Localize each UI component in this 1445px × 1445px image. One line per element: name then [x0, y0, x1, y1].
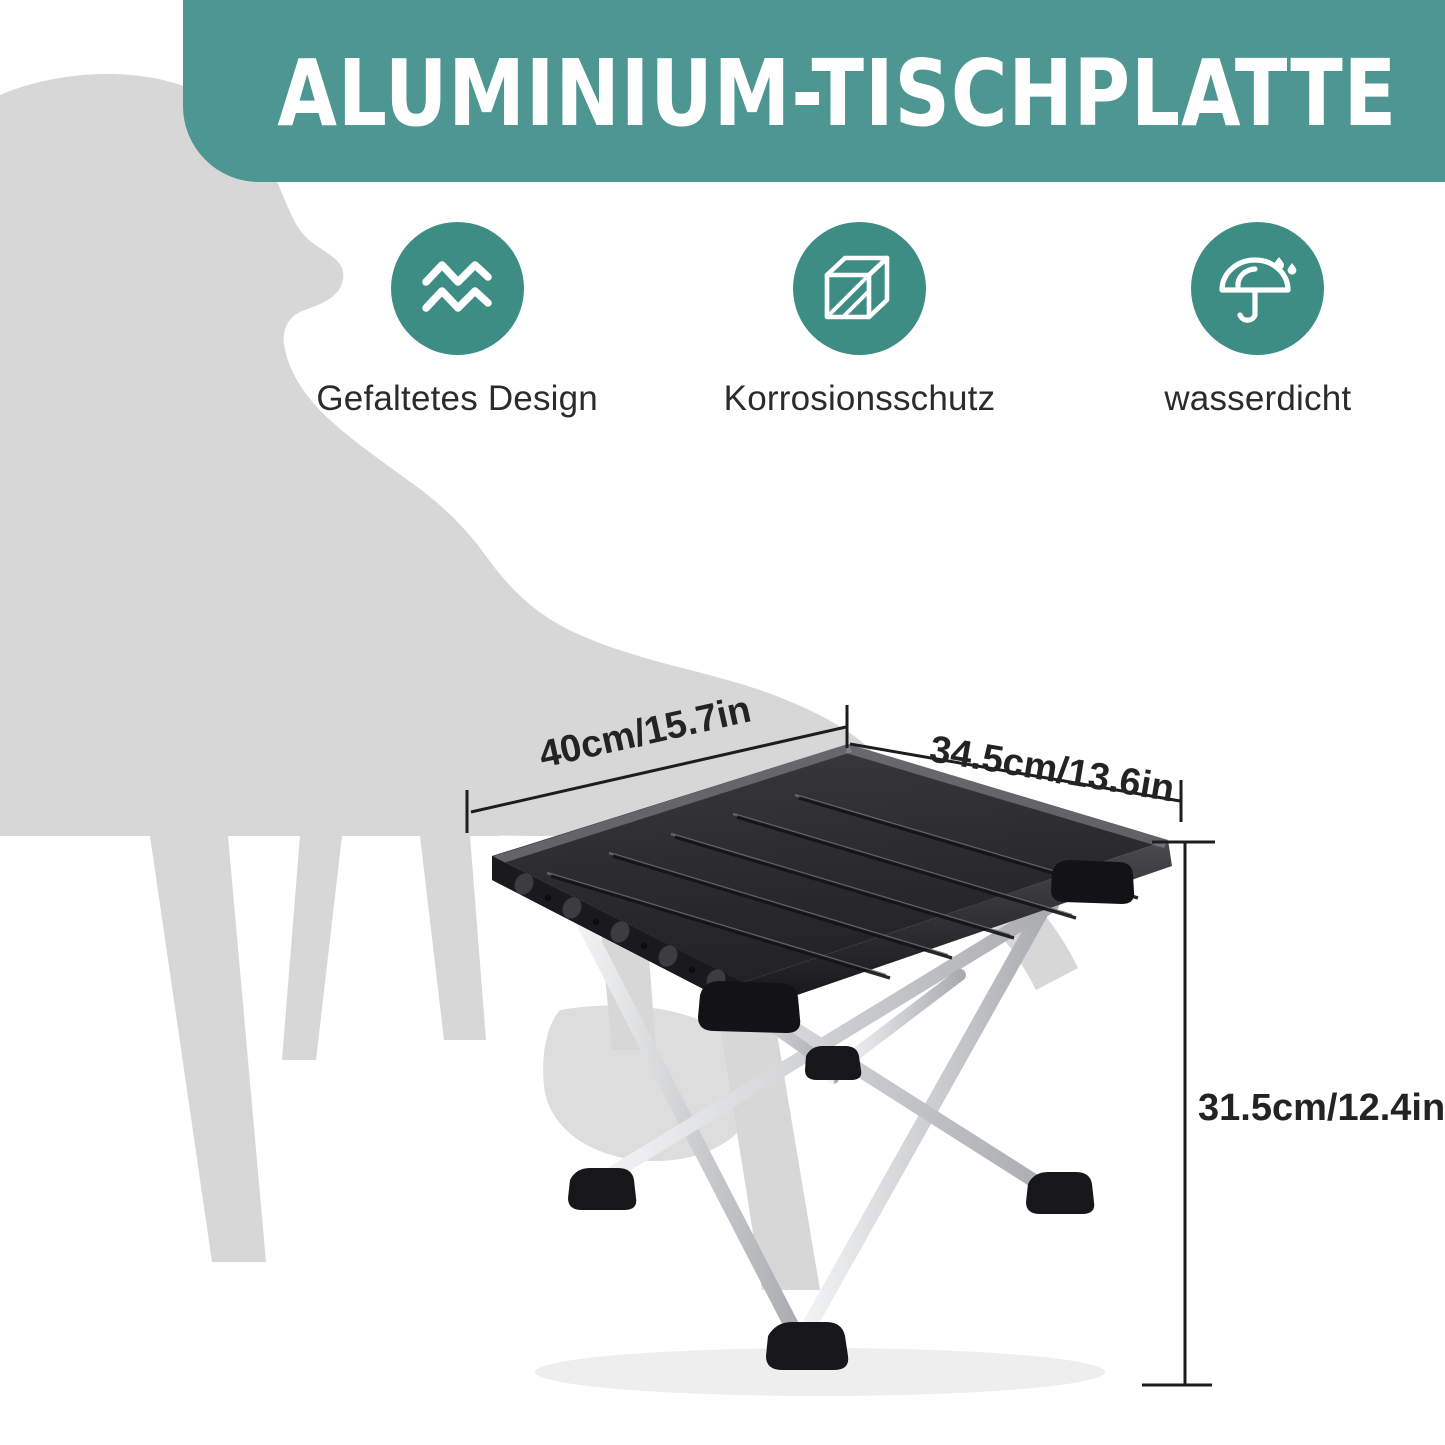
feature-list: Gefaltetes Design	[250, 222, 1445, 437]
dimension-label-depth: 34.5cm/13.6in	[926, 728, 1177, 811]
floor-shadow	[535, 1348, 1105, 1396]
feature-label: Gefaltetes Design	[316, 379, 598, 419]
umbrella-raindrops-icon	[1216, 249, 1300, 329]
feature-item-waterproof: wasserdicht	[1071, 222, 1445, 419]
feature-label: wasserdicht	[1164, 379, 1351, 419]
feature-item-corrosion-protection: Korrosionsschutz	[672, 222, 1046, 419]
table-feet	[568, 1046, 1094, 1370]
feature-item-folded-design: Gefaltetes Design	[270, 222, 644, 419]
zigzag-folded-icon	[418, 250, 496, 328]
title-banner: ALUMINIUM-TISCHPLATTE	[183, 0, 1445, 182]
page-title: ALUMINIUM-TISCHPLATTE	[231, 48, 1397, 140]
dimension-label-height: 31.5cm/12.4in	[1198, 1087, 1445, 1130]
hinge-rail-holes	[511, 870, 729, 994]
cube-hatched-icon	[819, 249, 899, 329]
table-legs	[573, 900, 1058, 1342]
feature-icon-badge	[793, 222, 926, 355]
dimension-lines	[467, 705, 1215, 1385]
feature-label: Korrosionsschutz	[724, 379, 996, 419]
infographic-canvas: ALUMINIUM-TISCHPLATTE Gefaltetes Design	[0, 0, 1445, 1445]
dimension-label-width: 40cm/15.7in	[535, 689, 755, 778]
feature-icon-badge	[391, 222, 524, 355]
feature-icon-badge	[1191, 222, 1324, 355]
